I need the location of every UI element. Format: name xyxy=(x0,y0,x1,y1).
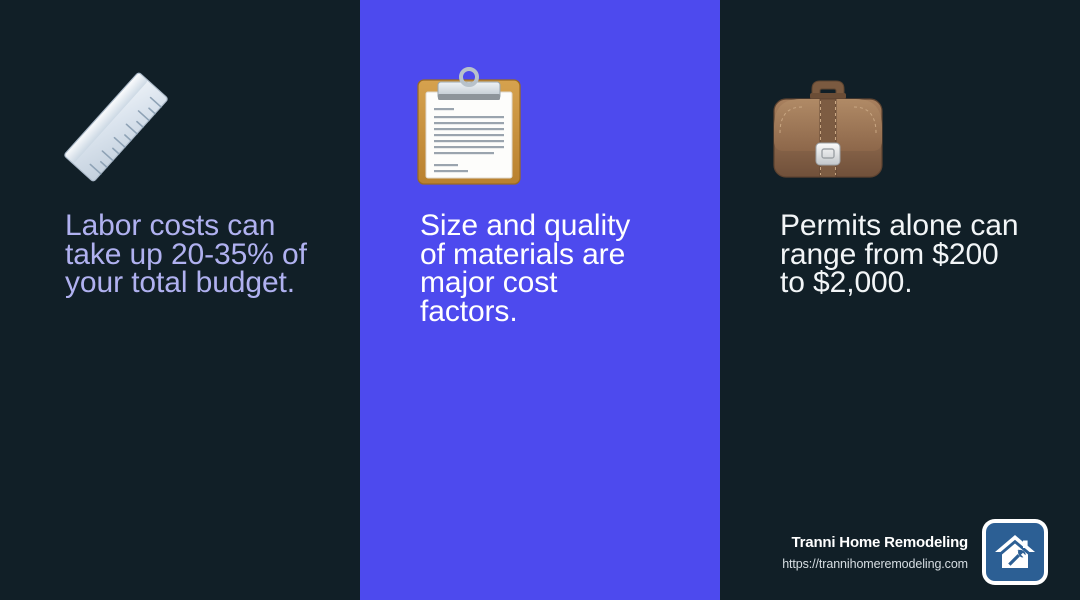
clipboard-icon xyxy=(410,66,528,188)
brand-text-block: Tranni Home Remodeling https://trannihom… xyxy=(782,534,968,571)
panel-labor-costs: Labor costs can take up 20-35% of your t… xyxy=(0,0,360,600)
clipboard-icon-wrap xyxy=(360,52,720,202)
panel-2-text: Size and quality of materials are major … xyxy=(420,212,710,326)
panel-3-text: Permits alone can range from $200 to $2,… xyxy=(780,212,1070,298)
infographic-canvas: Labor costs can take up 20-35% of your t… xyxy=(0,0,1080,600)
brand-logo[interactable] xyxy=(982,519,1048,585)
briefcase-icon-wrap xyxy=(720,52,1080,202)
brand-name: Tranni Home Remodeling xyxy=(792,534,968,551)
panel-permits: Permits alone can range from $200 to $2,… xyxy=(720,0,1080,600)
panel-materials: Size and quality of materials are major … xyxy=(360,0,720,600)
straight-ruler-icon xyxy=(52,63,180,191)
house-with-hammer-icon xyxy=(991,528,1039,576)
brand-logo-inner xyxy=(986,523,1044,581)
brand-url[interactable]: https://trannihomeremodeling.com xyxy=(782,557,968,571)
straight-ruler-icon-wrap xyxy=(0,52,360,202)
brand-footer: Tranni Home Remodeling https://trannihom… xyxy=(782,519,1048,585)
briefcase-icon xyxy=(768,71,888,183)
panel-1-text: Labor costs can take up 20-35% of your t… xyxy=(65,212,345,298)
